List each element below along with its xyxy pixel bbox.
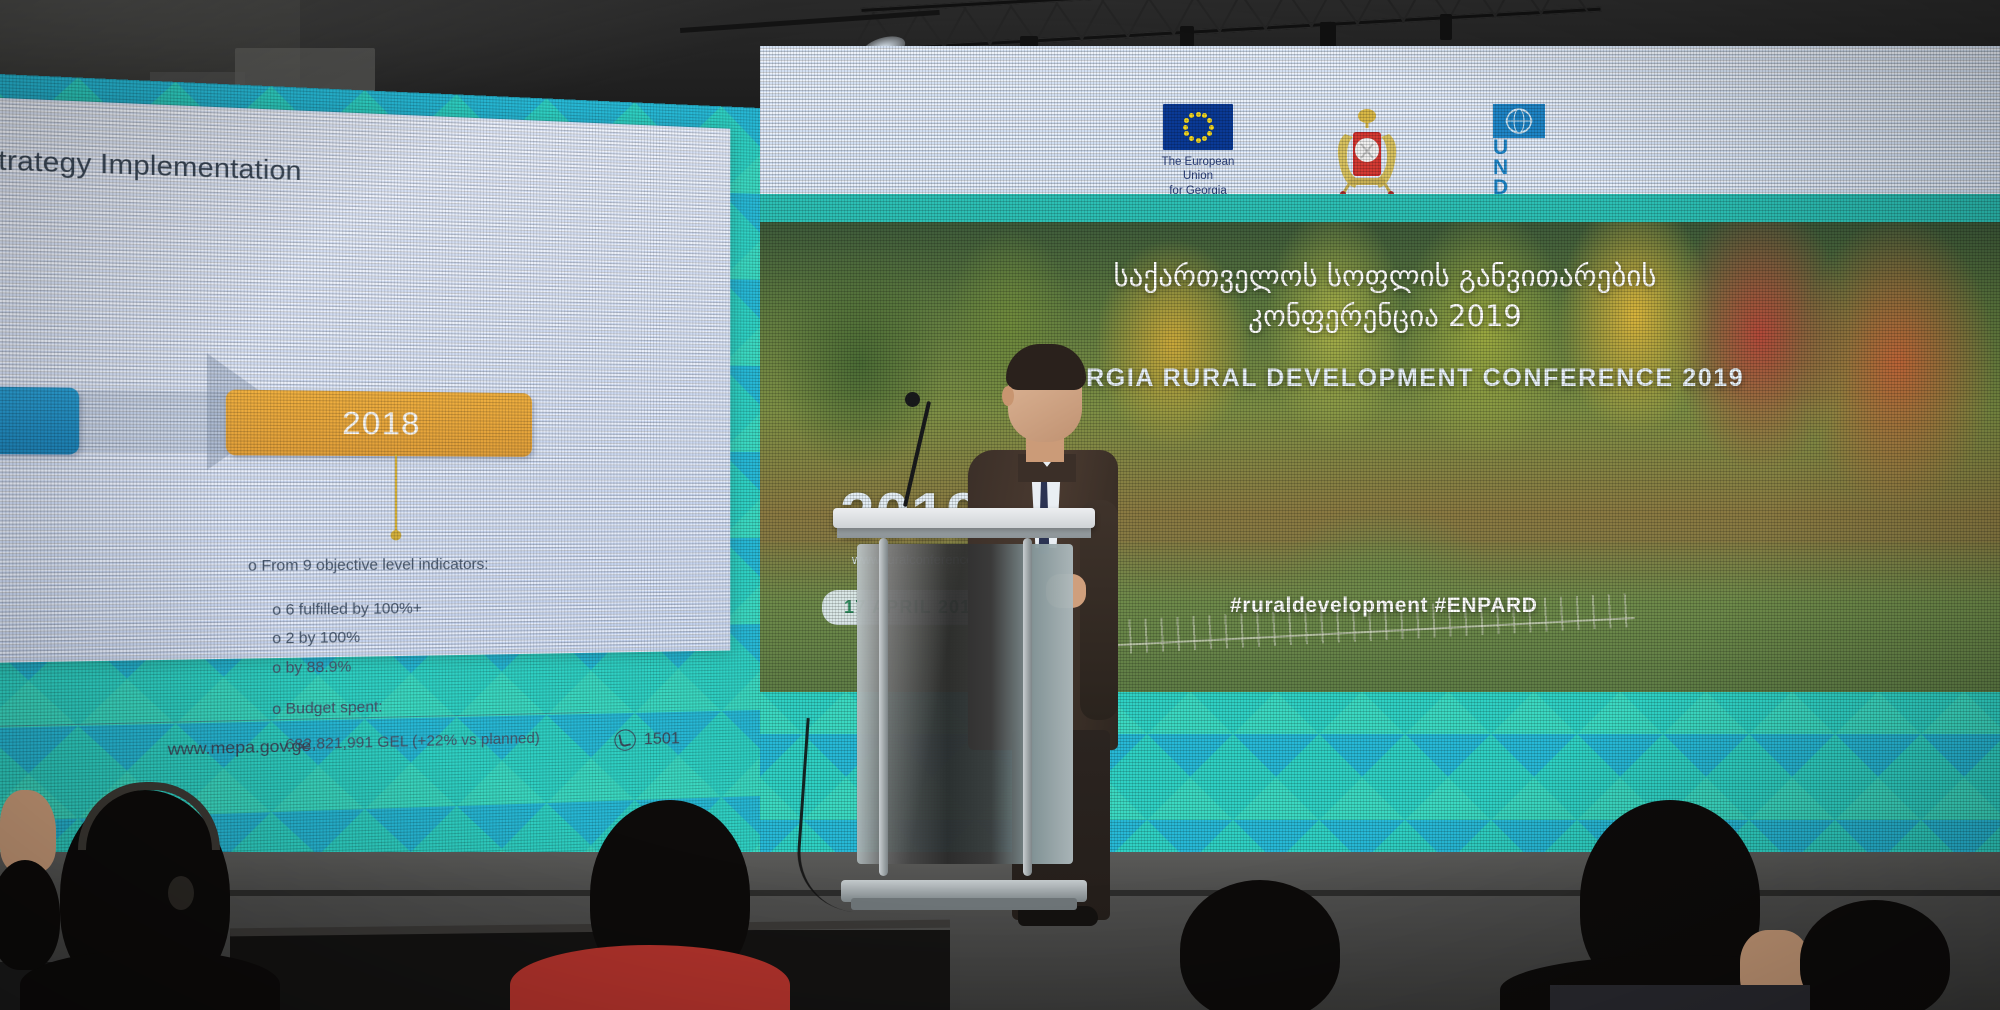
podium-rail-left (879, 538, 888, 876)
bullet-heading: o From 9 objective level indicators: (248, 551, 609, 582)
speaker-ear (1002, 386, 1014, 406)
podium (845, 508, 1090, 913)
bullet-text: Budget spent: (286, 699, 383, 718)
phone-icon (614, 729, 635, 751)
connector-dot (391, 530, 402, 540)
slide-footer-website: www.mepa.gov.ge (168, 737, 311, 760)
audience-head (1800, 900, 1950, 1010)
screenshot-root: ults of the Strategy Implementation 2017… (0, 0, 2000, 1010)
podium-foot (851, 898, 1077, 910)
podium-rail-right (1023, 538, 1032, 876)
eu-caption-line1: The European Union (1162, 156, 1235, 182)
eu-flag-icon (1163, 104, 1233, 150)
audience-desk (1550, 985, 1810, 1010)
bullet-item: r level indicators: (0, 554, 91, 587)
bullet-marker: o (272, 602, 285, 619)
bullet-heading-text: From 9 objective level indicators: (261, 557, 488, 575)
bullet-text: by 88.9% (286, 659, 352, 677)
bullet-marker: o (248, 558, 261, 575)
podium-desktop-surface (833, 508, 1095, 528)
bullet-item: o 6 fulfilled by 100%+ (272, 593, 609, 625)
slide-bullets-left-column: r level indicators: d by 100% or 100%+; … (0, 554, 91, 773)
microphone-icon (905, 392, 920, 407)
stage-light-fixture (1440, 14, 1452, 40)
conference-title-english: GEORGIA RURAL DEVELOPMENT CONFERENCE 201… (760, 364, 2000, 393)
screen-header-band: The European Union for Georgia ENPARD (760, 46, 2000, 194)
undp-logo-icon: UNDP Empowered lives.Resilient nations. (1493, 104, 1545, 182)
phone-number: 1501 (644, 730, 680, 749)
georgia-coat-of-arms-icon (1325, 104, 1409, 196)
teal-divider-band (760, 194, 2000, 222)
speaker-hair (1006, 344, 1086, 390)
bullet-marker: o (272, 701, 285, 718)
partner-logos: The European Union for Georgia ENPARD (1155, 104, 1545, 207)
bullet-marker: o (272, 660, 285, 677)
bullet-text: 2 by 100% (286, 630, 361, 648)
podium-panel-reflection (857, 544, 1073, 864)
eu-logo: The European Union for Georgia ENPARD (1155, 104, 1241, 207)
conference-title-georgian: საქართველოს სოფლის განვითარების კონფერენ… (760, 256, 2000, 336)
undp-emblem-box (1493, 104, 1545, 138)
slide-bullets-right-column: o From 9 objective level indicators: o 6… (248, 551, 609, 762)
bullet-marker: o (272, 631, 285, 648)
title-ka-line1: საქართველოს სოფლის განვითარების (760, 256, 2000, 296)
bullet-item: o by 88.9% (272, 649, 609, 684)
connector-line-2018 (395, 454, 397, 535)
year-pill-2017: 2017 (0, 384, 79, 455)
presentation-slide: ults of the Strategy Implementation 2017… (0, 93, 730, 665)
bullet-item: lled. (0, 658, 91, 695)
conference-hashtags: #ruraldevelopment #ENPARD (1230, 594, 1538, 618)
bullet-budget-label: o Budget spent: (272, 689, 609, 725)
audience-head (1180, 880, 1340, 1010)
bullet-text: 6 fulfilled by 100%+ (286, 600, 422, 618)
headphone-earcup-icon (168, 876, 194, 910)
title-ka-line2: კონფერენცია 2019 (760, 296, 2000, 336)
year-pill-2018: 2018 (226, 390, 532, 457)
slide-footer-phone: 1501 (614, 728, 679, 751)
